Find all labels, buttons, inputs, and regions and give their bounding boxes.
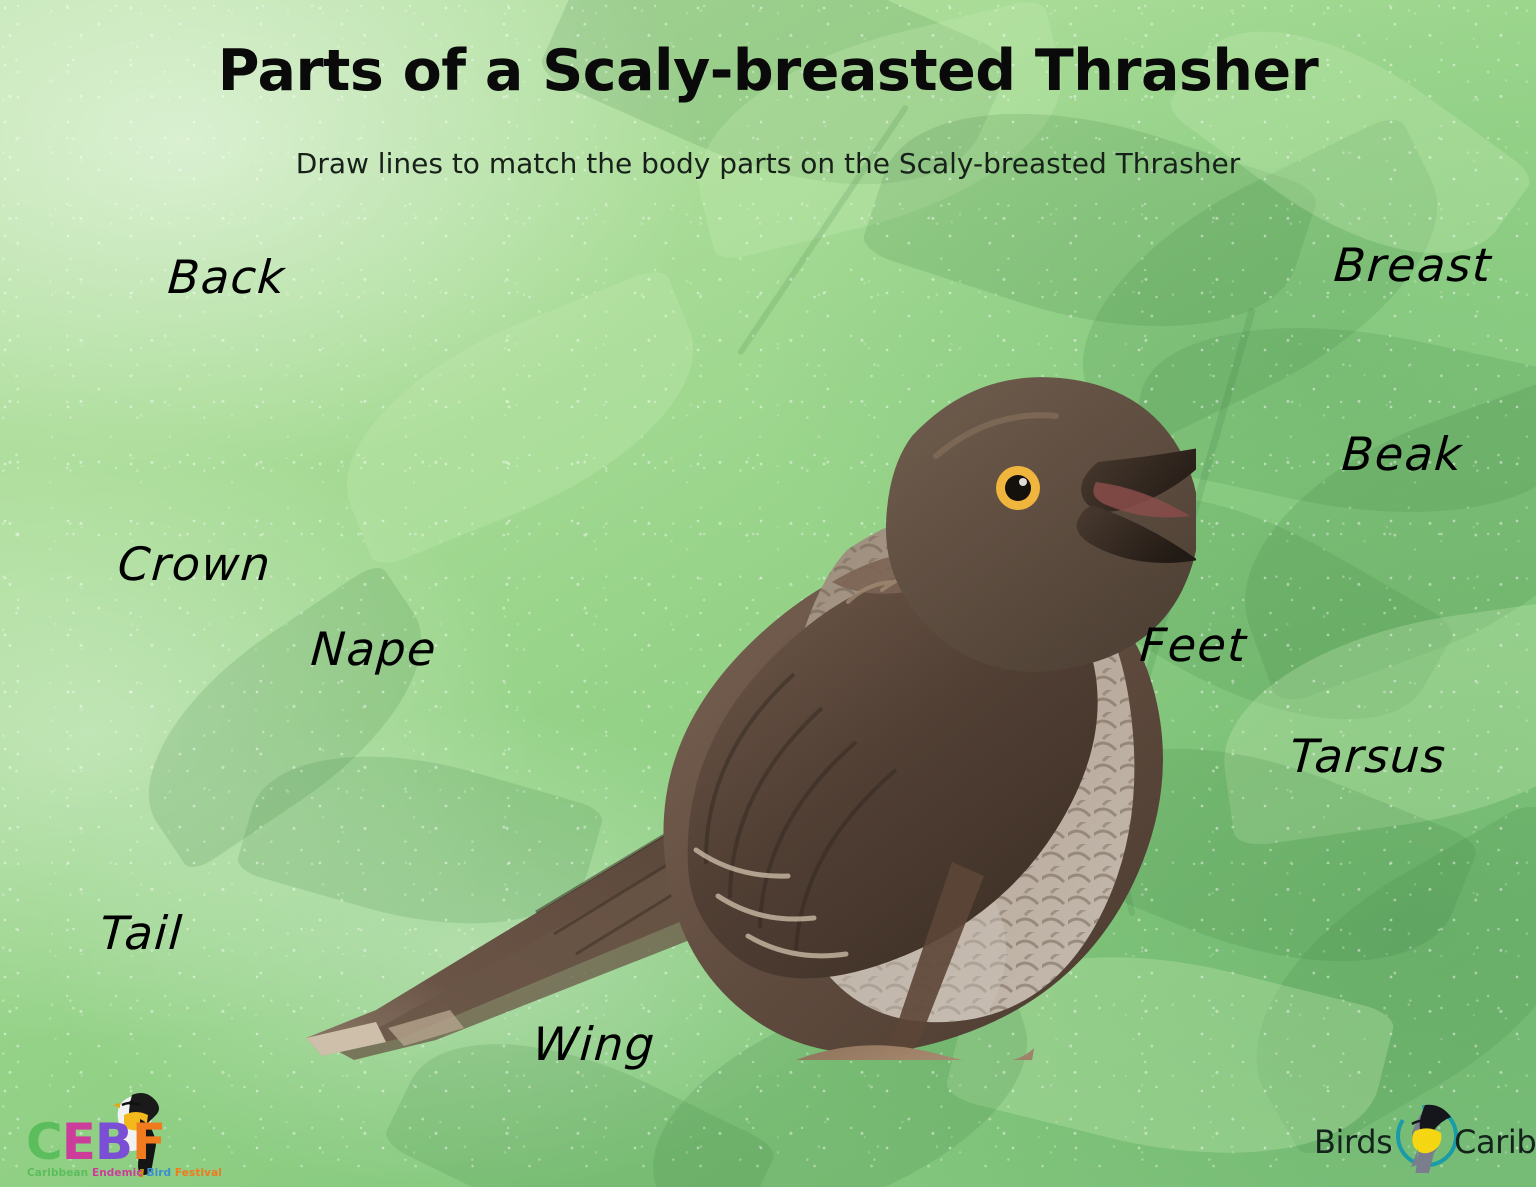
birds-caribbean-bird-icon	[1390, 1099, 1464, 1173]
label-crown[interactable]: Crown	[116, 537, 273, 591]
birds-caribbean-logo[interactable]: Birds Caribbean	[1314, 1093, 1510, 1171]
page-instructions: Draw lines to match the body parts on th…	[0, 147, 1536, 180]
cebf-letter-f: F	[132, 1117, 165, 1167]
worksheet-poster: Parts of a Scaly-breasted Thrasher Draw …	[0, 0, 1536, 1187]
label-tail[interactable]: Tail	[98, 906, 185, 960]
label-tarsus[interactable]: Tarsus	[1288, 729, 1448, 783]
bc-word-birds: Birds	[1314, 1123, 1392, 1161]
cebf-tagline-word-endemic: Endemic	[92, 1167, 147, 1179]
bird-eye	[996, 466, 1040, 510]
cebf-letter-e: E	[62, 1117, 95, 1167]
cebf-letter-c: C	[26, 1117, 62, 1167]
label-wing[interactable]: Wing	[531, 1017, 657, 1071]
cebf-tagline: Caribbean Endemic Bird Festival	[27, 1167, 222, 1179]
cebf-tagline-word-bird: Bird	[146, 1167, 174, 1179]
cebf-tagline-word-festival: Festival	[175, 1167, 222, 1179]
bc-word-caribbean: Caribbean	[1454, 1123, 1536, 1161]
label-back[interactable]: Back	[166, 250, 287, 304]
label-nape[interactable]: Nape	[309, 622, 439, 676]
label-beak[interactable]: Beak	[1340, 427, 1464, 481]
label-feet[interactable]: Feet	[1138, 618, 1249, 672]
cebf-logo[interactable]: CEBF Caribbean Endemic Bird Festival	[12, 1087, 197, 1179]
cebf-tagline-word-caribbean: Caribbean	[27, 1167, 92, 1179]
cebf-wordmark: CEBF	[26, 1117, 165, 1167]
cebf-letter-b: B	[95, 1117, 132, 1167]
label-breast[interactable]: Breast	[1332, 238, 1494, 292]
page-title: Parts of a Scaly-breasted Thrasher	[0, 38, 1536, 104]
